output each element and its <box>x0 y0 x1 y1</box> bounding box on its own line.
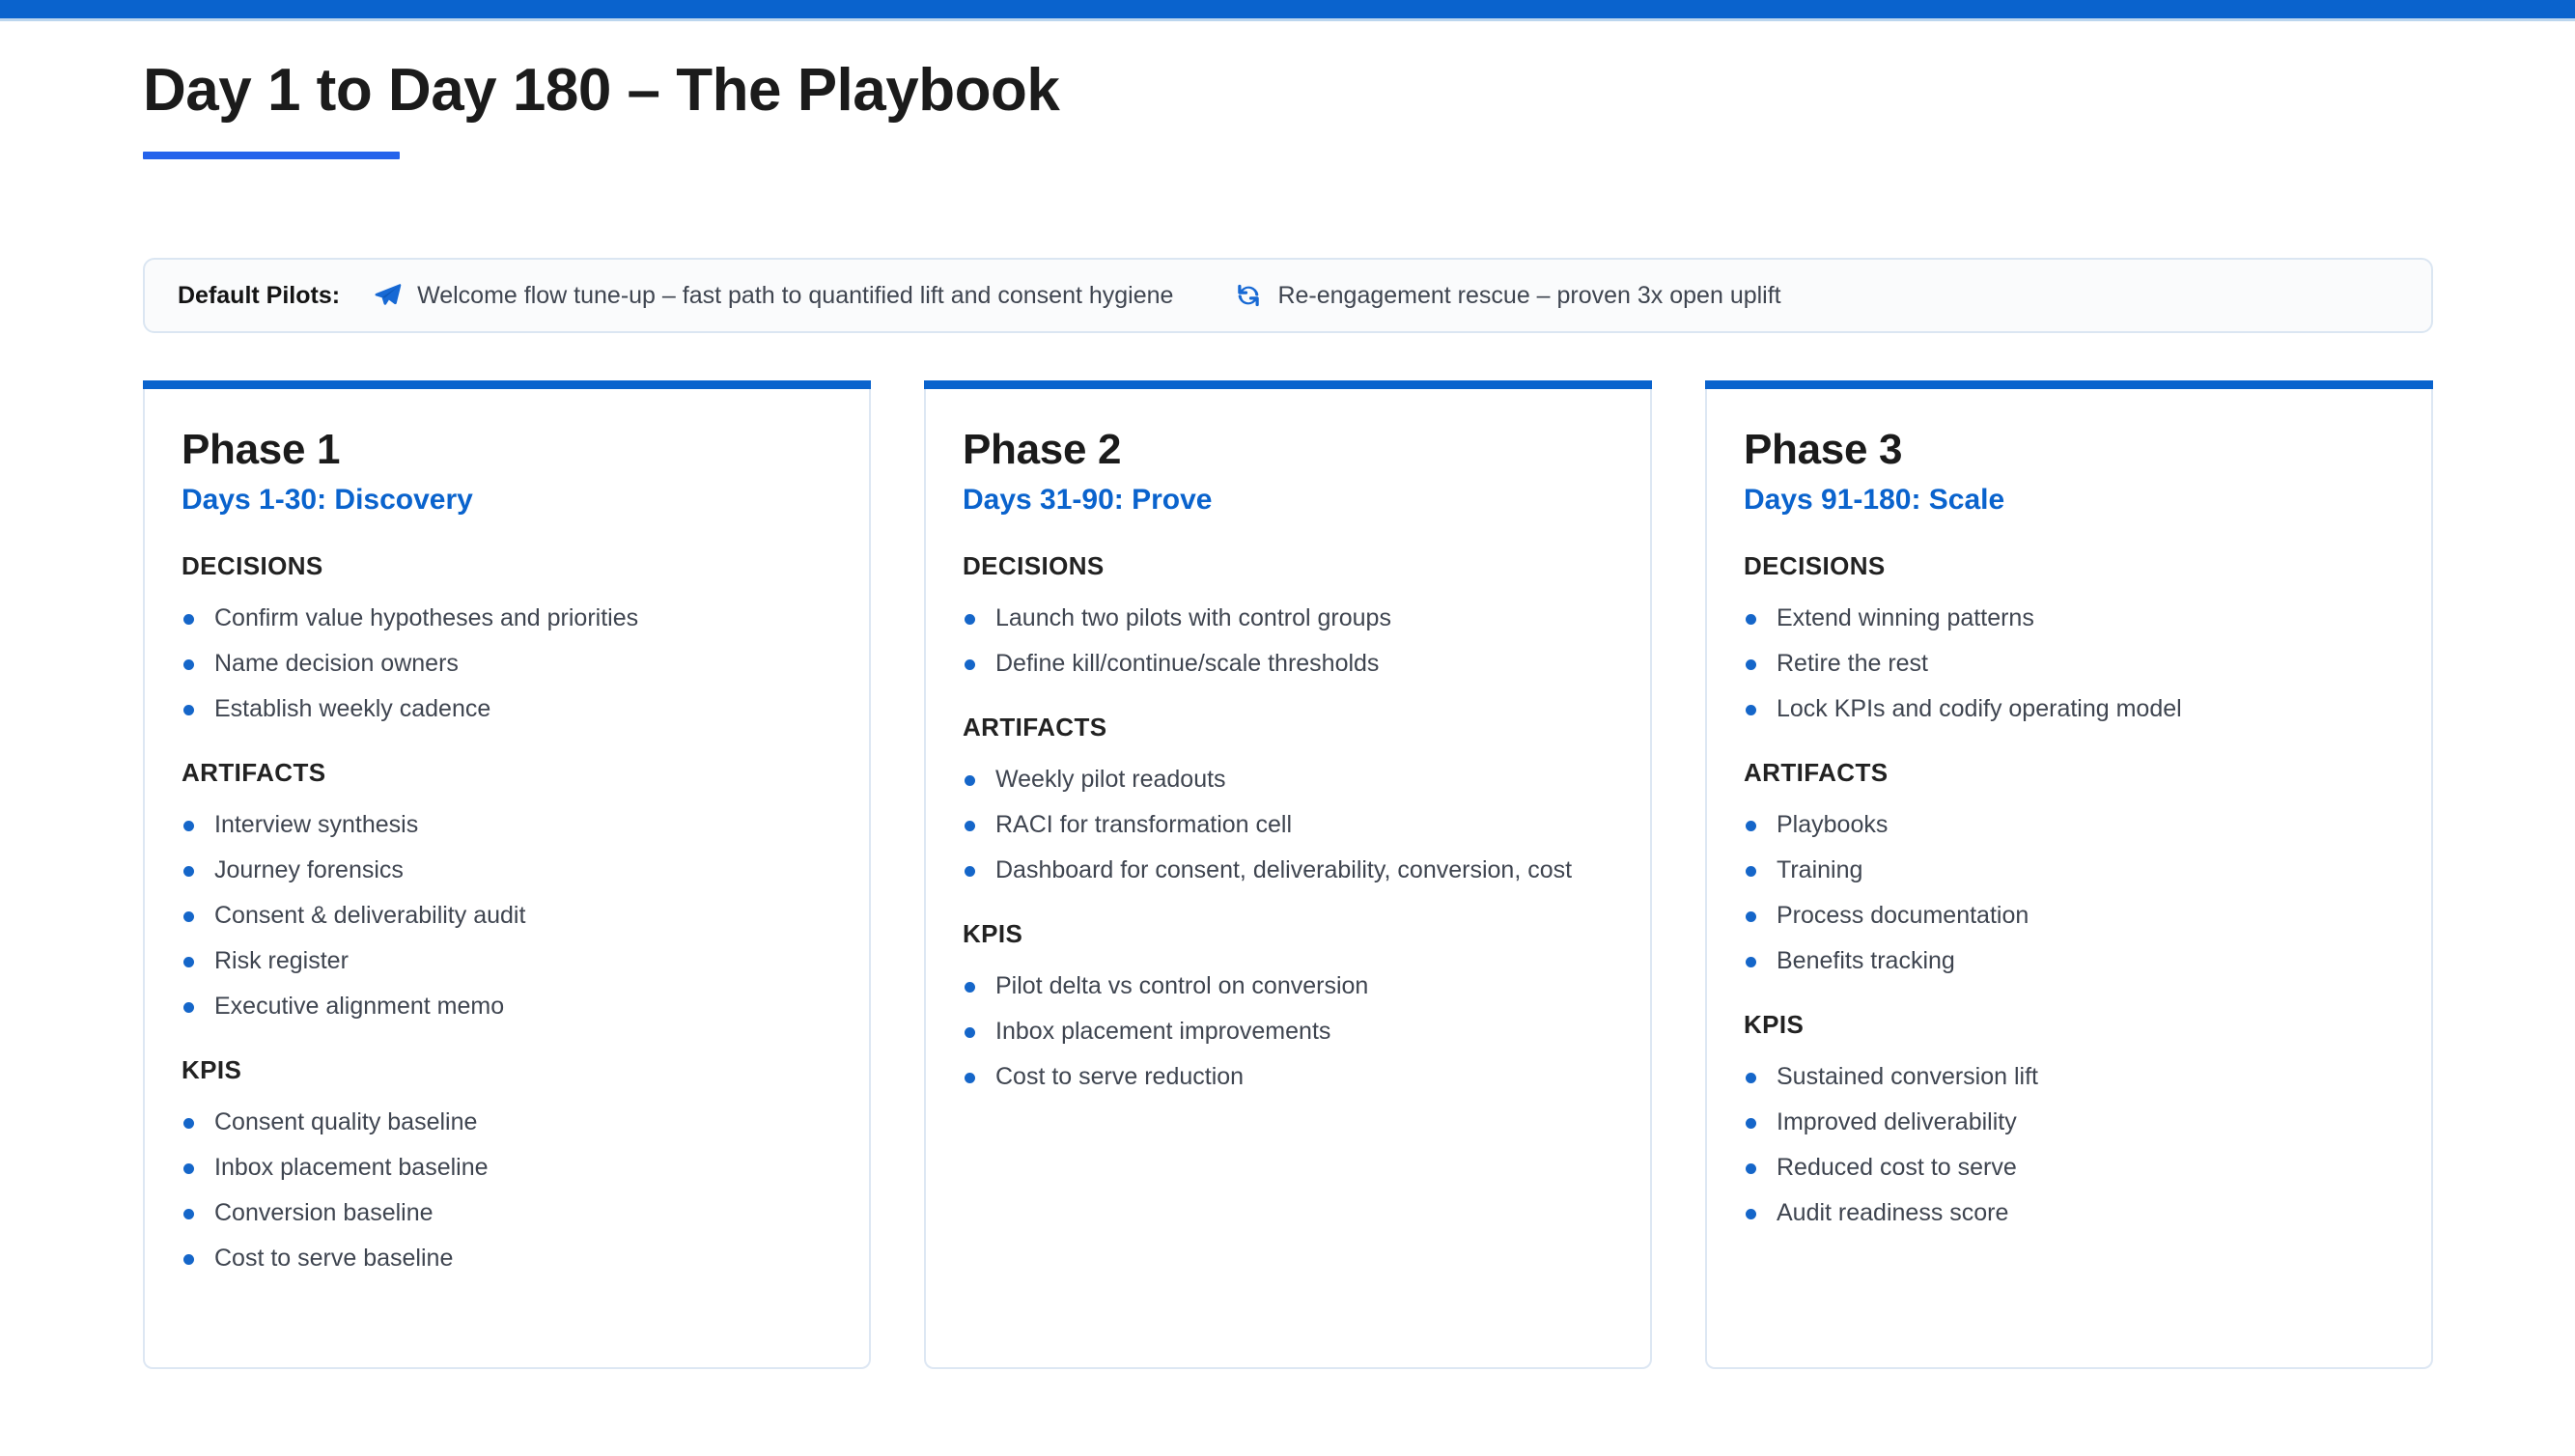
list-item-text: Executive alignment memo <box>214 993 504 1020</box>
list-item-text: Cost to serve reduction <box>995 1063 1244 1090</box>
section-list: Launch two pilots with control groups De… <box>963 602 1613 680</box>
list-item: Dashboard for consent, deliverability, c… <box>963 854 1613 886</box>
list-item: Launch two pilots with control groups <box>963 602 1613 634</box>
list-item-text: Pilot delta vs control on conversion <box>995 972 1368 999</box>
card-title: Phase 2 <box>963 389 1613 476</box>
card-title: Phase 1 <box>182 389 832 476</box>
list-item: Playbooks <box>1744 809 2394 841</box>
bullet-icon <box>1746 1073 1756 1083</box>
list-item-text: Benefits tracking <box>1777 947 1955 974</box>
list-item-text: Weekly pilot readouts <box>995 766 1226 793</box>
list-item-text: Playbooks <box>1777 811 1888 838</box>
list-item: Establish weekly cadence <box>182 693 832 725</box>
bullet-icon <box>1746 911 1756 922</box>
bullet-icon <box>183 957 194 967</box>
card-subtitle: Days 1-30: Discovery <box>182 482 832 518</box>
top-accent-bar <box>0 0 2575 18</box>
card-section-decisions: DECISIONS Extend winning patterns Retire… <box>1744 551 2394 725</box>
list-item: Pilot delta vs control on conversion <box>963 970 1613 1002</box>
list-item-text: RACI for transformation cell <box>995 811 1292 838</box>
list-item-text: Reduced cost to serve <box>1777 1154 2017 1181</box>
list-item-text: Cost to serve baseline <box>214 1245 453 1272</box>
bullet-icon <box>965 614 975 625</box>
list-item-text: Audit readiness score <box>1777 1199 2008 1226</box>
list-item: Risk register <box>182 945 832 977</box>
list-item-text: Improved deliverability <box>1777 1108 2017 1135</box>
card-accent-bar <box>924 380 1652 389</box>
list-item-text: Dashboard for consent, deliverability, c… <box>995 856 1572 883</box>
list-item-text: Risk register <box>214 947 349 974</box>
pilot-item-welcome-flow[interactable]: Welcome flow tune-up – fast path to quan… <box>373 280 1173 311</box>
section-list: Weekly pilot readouts RACI for transform… <box>963 764 1613 886</box>
bullet-icon <box>183 1002 194 1013</box>
list-item-text: Extend winning patterns <box>1777 604 2034 631</box>
refresh-icon <box>1233 280 1264 311</box>
list-item-text: Name decision owners <box>214 650 459 677</box>
bullet-icon <box>183 1118 194 1129</box>
bullet-icon <box>183 866 194 877</box>
bullet-icon <box>965 1027 975 1038</box>
list-item: Name decision owners <box>182 648 832 680</box>
list-item: Improved deliverability <box>1744 1106 2394 1138</box>
bullet-icon <box>183 614 194 625</box>
bullet-icon <box>965 775 975 786</box>
section-header: DECISIONS <box>182 551 832 581</box>
list-item: Sustained conversion lift <box>1744 1061 2394 1093</box>
card-section-kpis: KPIS Consent quality baseline Inbox plac… <box>182 1055 832 1274</box>
page-root: Day 1 to Day 180 – The Playbook Default … <box>0 21 2575 1456</box>
phase-card-3: Phase 3 Days 91-180: Scale DECISIONS Ext… <box>1705 389 2433 1369</box>
card-subtitle: Days 91-180: Scale <box>1744 482 2394 518</box>
title-block: Day 1 to Day 180 – The Playbook <box>143 55 2460 159</box>
card-section-artifacts: ARTIFACTS Playbooks Training Process doc… <box>1744 758 2394 977</box>
list-item-text: Establish weekly cadence <box>214 695 490 722</box>
list-item-text: Conversion baseline <box>214 1199 434 1226</box>
bullet-icon <box>183 821 194 831</box>
list-item-text: Training <box>1777 856 1862 883</box>
bullet-icon <box>1746 1209 1756 1219</box>
bullet-icon <box>183 659 194 670</box>
bullet-icon <box>965 659 975 670</box>
bullet-icon <box>1746 866 1756 877</box>
card-section-kpis: KPIS Sustained conversion lift Improved … <box>1744 1010 2394 1229</box>
section-header: ARTIFACTS <box>182 758 832 788</box>
list-item-text: Retire the rest <box>1777 650 1928 677</box>
section-list: Sustained conversion lift Improved deliv… <box>1744 1061 2394 1229</box>
list-item-text: Consent quality baseline <box>214 1108 477 1135</box>
list-item-text: Interview synthesis <box>214 811 418 838</box>
list-item-text: Inbox placement baseline <box>214 1154 489 1181</box>
list-item: Inbox placement baseline <box>182 1152 832 1184</box>
section-list: Pilot delta vs control on conversion Inb… <box>963 970 1613 1093</box>
list-item-text: Launch two pilots with control groups <box>995 604 1391 631</box>
card-accent-bar <box>143 380 871 389</box>
section-header: DECISIONS <box>963 551 1613 581</box>
list-item: Weekly pilot readouts <box>963 764 1613 796</box>
section-list: Playbooks Training Process documentation… <box>1744 809 2394 977</box>
list-item-text: Journey forensics <box>214 856 404 883</box>
section-list: Confirm value hypotheses and priorities … <box>182 602 832 725</box>
bullet-icon <box>1746 821 1756 831</box>
list-item: Extend winning patterns <box>1744 602 2394 634</box>
list-item-text: Confirm value hypotheses and priorities <box>214 604 638 631</box>
list-item: Process documentation <box>1744 900 2394 932</box>
card-title: Phase 3 <box>1744 389 2394 476</box>
paper-plane-icon <box>373 280 404 311</box>
bullet-icon <box>183 1163 194 1174</box>
card-section-artifacts: ARTIFACTS Weekly pilot readouts RACI for… <box>963 713 1613 886</box>
section-header: KPIS <box>963 919 1613 949</box>
title-underline <box>143 152 400 159</box>
bullet-icon <box>965 982 975 993</box>
phase-card-1: Phase 1 Days 1-30: Discovery DECISIONS C… <box>143 389 871 1369</box>
list-item: Cost to serve baseline <box>182 1243 832 1274</box>
default-pilots-bar: Default Pilots: Welcome flow tune-up – f… <box>143 258 2433 333</box>
list-item: Confirm value hypotheses and priorities <box>182 602 832 634</box>
list-item-text: Process documentation <box>1777 902 2029 929</box>
default-pilots-label: Default Pilots: <box>178 282 340 310</box>
list-item-text: Inbox placement improvements <box>995 1018 1330 1045</box>
card-section-artifacts: ARTIFACTS Interview synthesis Journey fo… <box>182 758 832 1022</box>
list-item-text: Sustained conversion lift <box>1777 1063 2038 1090</box>
list-item: Consent quality baseline <box>182 1106 832 1138</box>
list-item: Benefits tracking <box>1744 945 2394 977</box>
bullet-icon <box>965 1073 975 1083</box>
section-list: Consent quality baseline Inbox placement… <box>182 1106 832 1274</box>
list-item: Interview synthesis <box>182 809 832 841</box>
card-section-decisions: DECISIONS Launch two pilots with control… <box>963 551 1613 680</box>
bullet-icon <box>1746 957 1756 967</box>
card-subtitle: Days 31-90: Prove <box>963 482 1613 518</box>
bullet-icon <box>183 705 194 715</box>
bullet-icon <box>183 1254 194 1265</box>
pilot-item-text: Welcome flow tune-up – fast path to quan… <box>417 281 1173 310</box>
card-section-decisions: DECISIONS Confirm value hypotheses and p… <box>182 551 832 725</box>
list-item: Inbox placement improvements <box>963 1016 1613 1048</box>
list-item: Reduced cost to serve <box>1744 1152 2394 1184</box>
bullet-icon <box>965 866 975 877</box>
list-item-text: Consent & deliverability audit <box>214 902 525 929</box>
card-section-kpis: KPIS Pilot delta vs control on conversio… <box>963 919 1613 1093</box>
list-item: Conversion baseline <box>182 1197 832 1229</box>
bullet-icon <box>1746 1163 1756 1174</box>
pilot-item-re-engagement[interactable]: Re-engagement rescue – proven 3x open up… <box>1233 280 1780 311</box>
card-accent-bar <box>1705 380 2433 389</box>
bullet-icon <box>1746 705 1756 715</box>
list-item: Retire the rest <box>1744 648 2394 680</box>
page-title: Day 1 to Day 180 – The Playbook <box>143 55 2460 126</box>
list-item: Training <box>1744 854 2394 886</box>
section-header: ARTIFACTS <box>1744 758 2394 788</box>
pilot-item-text: Re-engagement rescue – proven 3x open up… <box>1277 281 1780 310</box>
bullet-icon <box>1746 659 1756 670</box>
section-header: DECISIONS <box>1744 551 2394 581</box>
list-item-text: Define kill/continue/scale thresholds <box>995 650 1379 677</box>
list-item: Executive alignment memo <box>182 991 832 1022</box>
section-header: ARTIFACTS <box>963 713 1613 742</box>
list-item-text: Lock KPIs and codify operating model <box>1777 695 2182 722</box>
section-list: Interview synthesis Journey forensics Co… <box>182 809 832 1022</box>
list-item: Journey forensics <box>182 854 832 886</box>
phase-card-2: Phase 2 Days 31-90: Prove DECISIONS Laun… <box>924 389 1652 1369</box>
bullet-icon <box>1746 1118 1756 1129</box>
list-item: Define kill/continue/scale thresholds <box>963 648 1613 680</box>
section-header: KPIS <box>182 1055 832 1085</box>
bullet-icon <box>183 1209 194 1219</box>
list-item: RACI for transformation cell <box>963 809 1613 841</box>
bullet-icon <box>183 911 194 922</box>
section-header: KPIS <box>1744 1010 2394 1040</box>
bullet-icon <box>1746 614 1756 625</box>
list-item: Lock KPIs and codify operating model <box>1744 693 2394 725</box>
list-item: Consent & deliverability audit <box>182 900 832 932</box>
bullet-icon <box>965 821 975 831</box>
list-item: Audit readiness score <box>1744 1197 2394 1229</box>
list-item: Cost to serve reduction <box>963 1061 1613 1093</box>
phase-cards-container: Phase 1 Days 1-30: Discovery DECISIONS C… <box>143 389 2433 1369</box>
section-list: Extend winning patterns Retire the rest … <box>1744 602 2394 725</box>
